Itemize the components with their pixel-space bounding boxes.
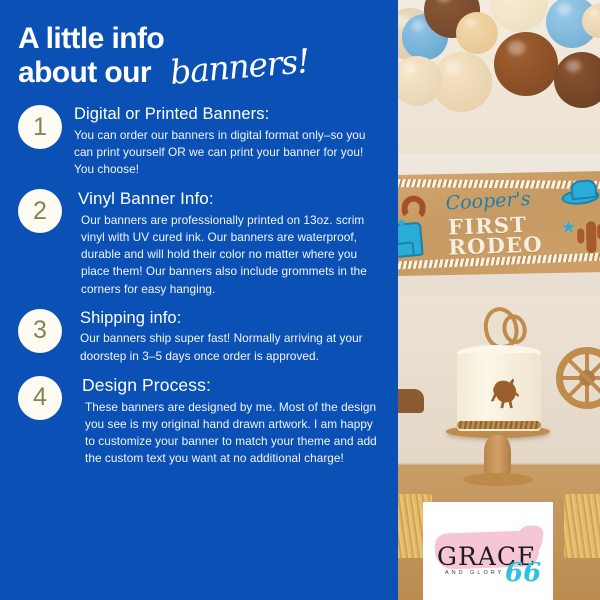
info-panel: A little info about our banners! 1 Digit… — [0, 0, 398, 600]
cake-stand-stem — [484, 435, 511, 477]
item-text: You can order our banners in digital for… — [74, 127, 382, 179]
balloon-brown — [494, 32, 558, 96]
item-body: Vinyl Banner Info: Our banners are profe… — [74, 187, 382, 297]
item-title: Design Process: — [82, 375, 382, 397]
list-item: 3 Shipping info: Our banners ship super … — [18, 307, 382, 365]
list-item: 1 Digital or Printed Banners: You can or… — [18, 103, 382, 178]
cake-stand-foot — [463, 473, 533, 486]
heading-line-2: about our banners! — [18, 56, 151, 90]
list-item: 2 Vinyl Banner Info: Our banners are pro… — [18, 187, 382, 297]
page-title: A little info about our banners! — [18, 22, 382, 89]
wagon-wheel-prop — [556, 347, 600, 409]
wheel-spoke — [585, 352, 589, 404]
cake-rope-trim — [457, 421, 541, 429]
rodeo-banner-photo: ★ ★ Cooper's FIRST RODEO — [398, 154, 600, 295]
star-icon: ★ — [398, 215, 408, 231]
item-text: Our banners ship super fast! Normally ar… — [80, 330, 382, 364]
balloon-brown — [554, 52, 600, 108]
balloon-tan — [456, 12, 498, 54]
kraft-banner: ★ ★ Cooper's FIRST RODEO — [398, 171, 600, 276]
logo-number-text: 66 — [505, 560, 541, 586]
item-number-badge: 2 — [18, 189, 62, 233]
item-title: Vinyl Banner Info: — [78, 188, 382, 209]
cactus-icon — [586, 221, 597, 253]
grace-and-glory-logo-card: GRACE AND GLORY 66 — [423, 502, 553, 600]
banner-name-text: Cooper's — [445, 188, 531, 215]
item-number-badge: 1 — [18, 105, 62, 149]
item-body: Digital or Printed Banners: You can orde… — [74, 103, 382, 178]
item-number-badge: 3 — [18, 309, 62, 353]
infographic-canvas: A little info about our banners! 1 Digit… — [0, 0, 600, 600]
photo-column: ★ ★ Cooper's FIRST RODEO — [398, 0, 600, 600]
logo-tagline-text: AND GLORY — [445, 570, 504, 576]
item-title: Shipping info: — [80, 308, 382, 329]
horse-silhouette-icon — [486, 373, 530, 417]
item-text: Our banners are professionally printed o… — [78, 212, 382, 298]
hay-bale — [564, 494, 600, 558]
cowboy-hat-icon — [561, 187, 600, 206]
item-body: Shipping info: Our banners ship super fa… — [74, 307, 382, 365]
heading-line-2-text: about our — [18, 56, 151, 89]
boot-prop — [398, 389, 424, 413]
balloon-ivory — [490, 0, 548, 32]
item-title: Digital or Printed Banners: — [74, 104, 382, 125]
item-text: These banners are designed by me. Most o… — [82, 399, 382, 468]
wheel-hub — [579, 370, 595, 386]
horse-cake-photo: GRACE AND GLORY 66 — [398, 295, 600, 600]
balloon-garland-photo — [398, 0, 600, 154]
balloon-cream — [398, 56, 442, 106]
banner-rodeo-text: RODEO — [448, 231, 543, 259]
star-icon: ★ — [561, 219, 577, 236]
item-number-badge: 4 — [18, 376, 62, 420]
item-body: Design Process: These banners are design… — [74, 374, 382, 468]
list-item: 4 Design Process: These banners are desi… — [18, 374, 382, 468]
